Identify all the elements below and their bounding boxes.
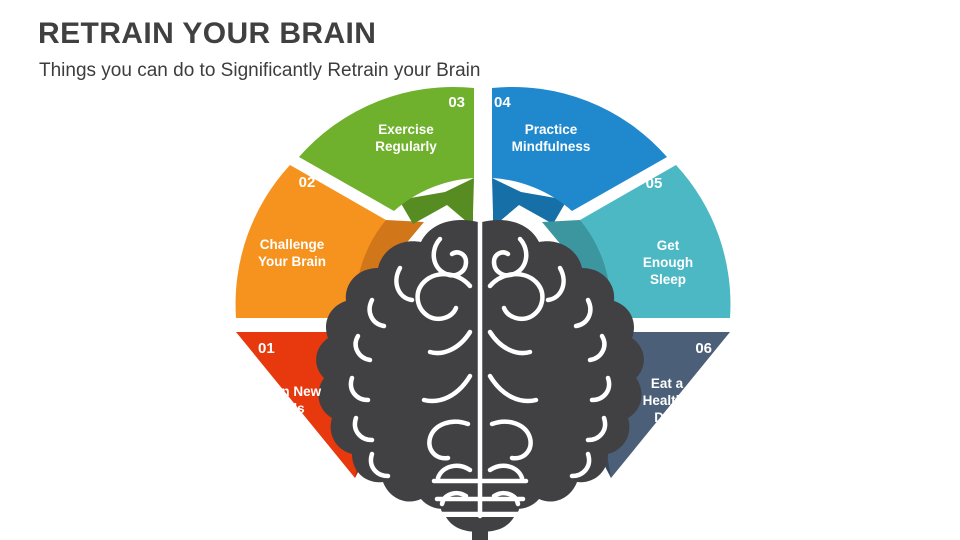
segment-01-number: 01 — [258, 340, 275, 357]
retrain-brain-wheel: 01 Learn NewSkills 02 ChallengeYour Brai… — [0, 0, 960, 540]
segment-04-number: 04 — [494, 94, 511, 111]
slide-canvas: RETRAIN YOUR BRAIN Things you can do to … — [0, 0, 960, 540]
segment-05-number: 05 — [646, 175, 663, 192]
segment-06-number: 06 — [695, 340, 712, 357]
segment-03-number: 03 — [448, 94, 465, 111]
segment-02-number: 02 — [299, 174, 316, 191]
